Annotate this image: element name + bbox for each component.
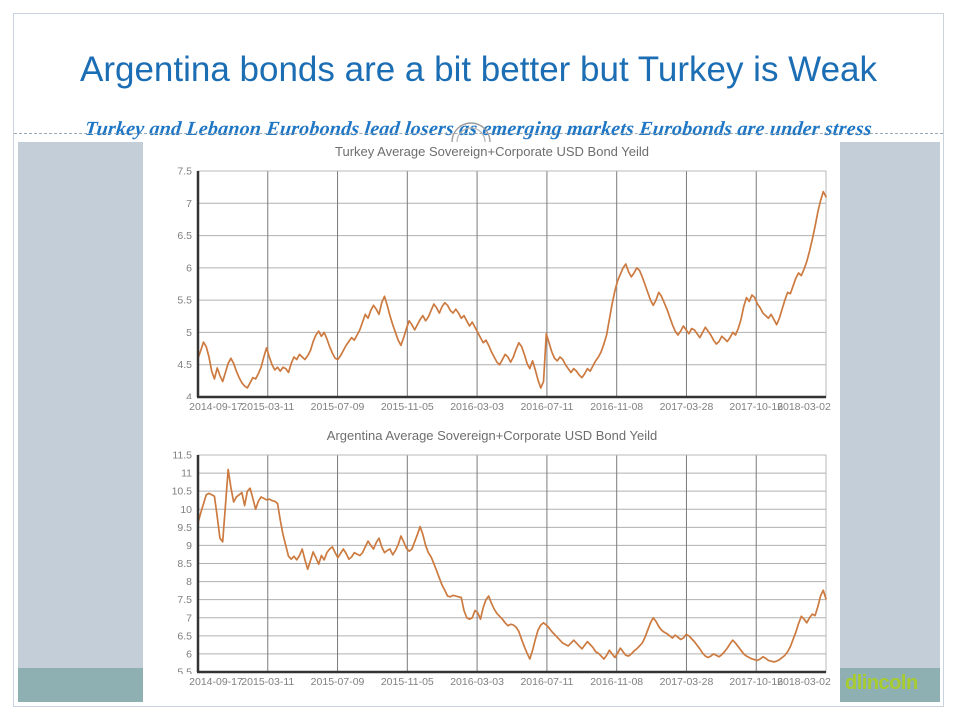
turkey-svg: 44.555.566.577.5 bbox=[152, 165, 832, 399]
argentina-svg: 5.566.577.588.599.51010.51111.5 bbox=[152, 449, 832, 674]
left-decor-panel bbox=[18, 142, 143, 691]
chart-argentina: Argentina Average Sovereign+Corporate US… bbox=[152, 428, 832, 712]
xtick-label: 2015-11-05 bbox=[381, 401, 434, 413]
svg-text:8: 8 bbox=[186, 576, 192, 588]
xtick-label: 2015-07-09 bbox=[311, 676, 365, 688]
chart-turkey-xaxis-labels: 2014-09-172015-03-112015-07-092015-11-05… bbox=[152, 401, 832, 417]
chart-turkey: Turkey Average Sovereign+Corporate USD B… bbox=[152, 144, 832, 429]
xtick-label: 2017-10-16 bbox=[729, 676, 783, 688]
svg-text:7: 7 bbox=[186, 198, 192, 210]
page-subtitle-container: Turkey and Lebanon Eurobonds lead losers… bbox=[14, 118, 943, 141]
slide: Argentina bonds are a bit better but Tur… bbox=[0, 0, 960, 720]
svg-text:10: 10 bbox=[180, 504, 192, 516]
xtick-label: 2015-11-05 bbox=[381, 676, 434, 688]
svg-text:9.5: 9.5 bbox=[177, 522, 192, 534]
svg-text:4: 4 bbox=[186, 392, 192, 400]
svg-text:7.5: 7.5 bbox=[177, 166, 192, 178]
svg-text:10.5: 10.5 bbox=[172, 486, 193, 498]
chart-turkey-title: Turkey Average Sovereign+Corporate USD B… bbox=[152, 144, 832, 159]
xtick-label: 2016-03-03 bbox=[450, 676, 504, 688]
chart-turkey-plot: 44.555.566.577.5 bbox=[152, 165, 832, 399]
svg-text:5.5: 5.5 bbox=[177, 667, 192, 675]
xtick-label: 2016-03-03 bbox=[450, 401, 504, 413]
watermark-dlincoln: dlincoln bbox=[845, 672, 918, 695]
right-decor-panel bbox=[840, 142, 940, 691]
svg-text:11: 11 bbox=[181, 468, 192, 480]
left-decor-panel-footer bbox=[18, 668, 143, 702]
xtick-label: 2018-03-02 bbox=[777, 676, 831, 688]
svg-text:8.5: 8.5 bbox=[177, 558, 192, 570]
svg-text:7.5: 7.5 bbox=[177, 594, 192, 606]
xtick-label: 2017-03-28 bbox=[660, 676, 714, 688]
xtick-label: 2015-03-11 bbox=[241, 401, 294, 413]
slide-header: Argentina bonds are a bit better but Tur… bbox=[14, 14, 943, 136]
chart-argentina-xaxis-labels: 2014-09-172015-03-112015-07-092015-11-05… bbox=[152, 676, 832, 692]
page-subtitle: Turkey and Lebanon Eurobonds lead losers… bbox=[84, 118, 873, 141]
svg-text:5.5: 5.5 bbox=[177, 295, 192, 307]
svg-text:7: 7 bbox=[186, 612, 192, 624]
xtick-label: 2016-07-11 bbox=[520, 401, 573, 413]
xtick-label: 2015-03-11 bbox=[241, 676, 294, 688]
xtick-label: 2018-03-02 bbox=[777, 401, 831, 413]
svg-text:6.5: 6.5 bbox=[177, 630, 192, 642]
svg-text:9: 9 bbox=[186, 540, 192, 552]
xtick-label: 2016-07-11 bbox=[520, 676, 573, 688]
xtick-label: 2017-10-16 bbox=[729, 401, 783, 413]
xtick-label: 2016-11-08 bbox=[590, 676, 643, 688]
chart-argentina-plot: 5.566.577.588.599.51010.51111.5 bbox=[152, 449, 832, 674]
xtick-label: 2014-09-17 bbox=[189, 676, 243, 688]
header-divider bbox=[14, 133, 943, 134]
svg-text:11.5: 11.5 bbox=[172, 450, 192, 462]
xtick-label: 2014-09-17 bbox=[189, 401, 243, 413]
svg-text:6: 6 bbox=[186, 262, 192, 274]
svg-text:5: 5 bbox=[186, 327, 192, 339]
xtick-label: 2017-03-28 bbox=[660, 401, 714, 413]
xtick-label: 2016-11-08 bbox=[590, 401, 643, 413]
svg-text:4.5: 4.5 bbox=[177, 359, 192, 371]
page-title: Argentina bonds are a bit better but Tur… bbox=[14, 50, 943, 90]
chart-argentina-title: Argentina Average Sovereign+Corporate US… bbox=[152, 428, 832, 443]
svg-text:6.5: 6.5 bbox=[177, 230, 192, 242]
svg-text:6: 6 bbox=[186, 648, 192, 660]
xtick-label: 2015-07-09 bbox=[311, 401, 365, 413]
